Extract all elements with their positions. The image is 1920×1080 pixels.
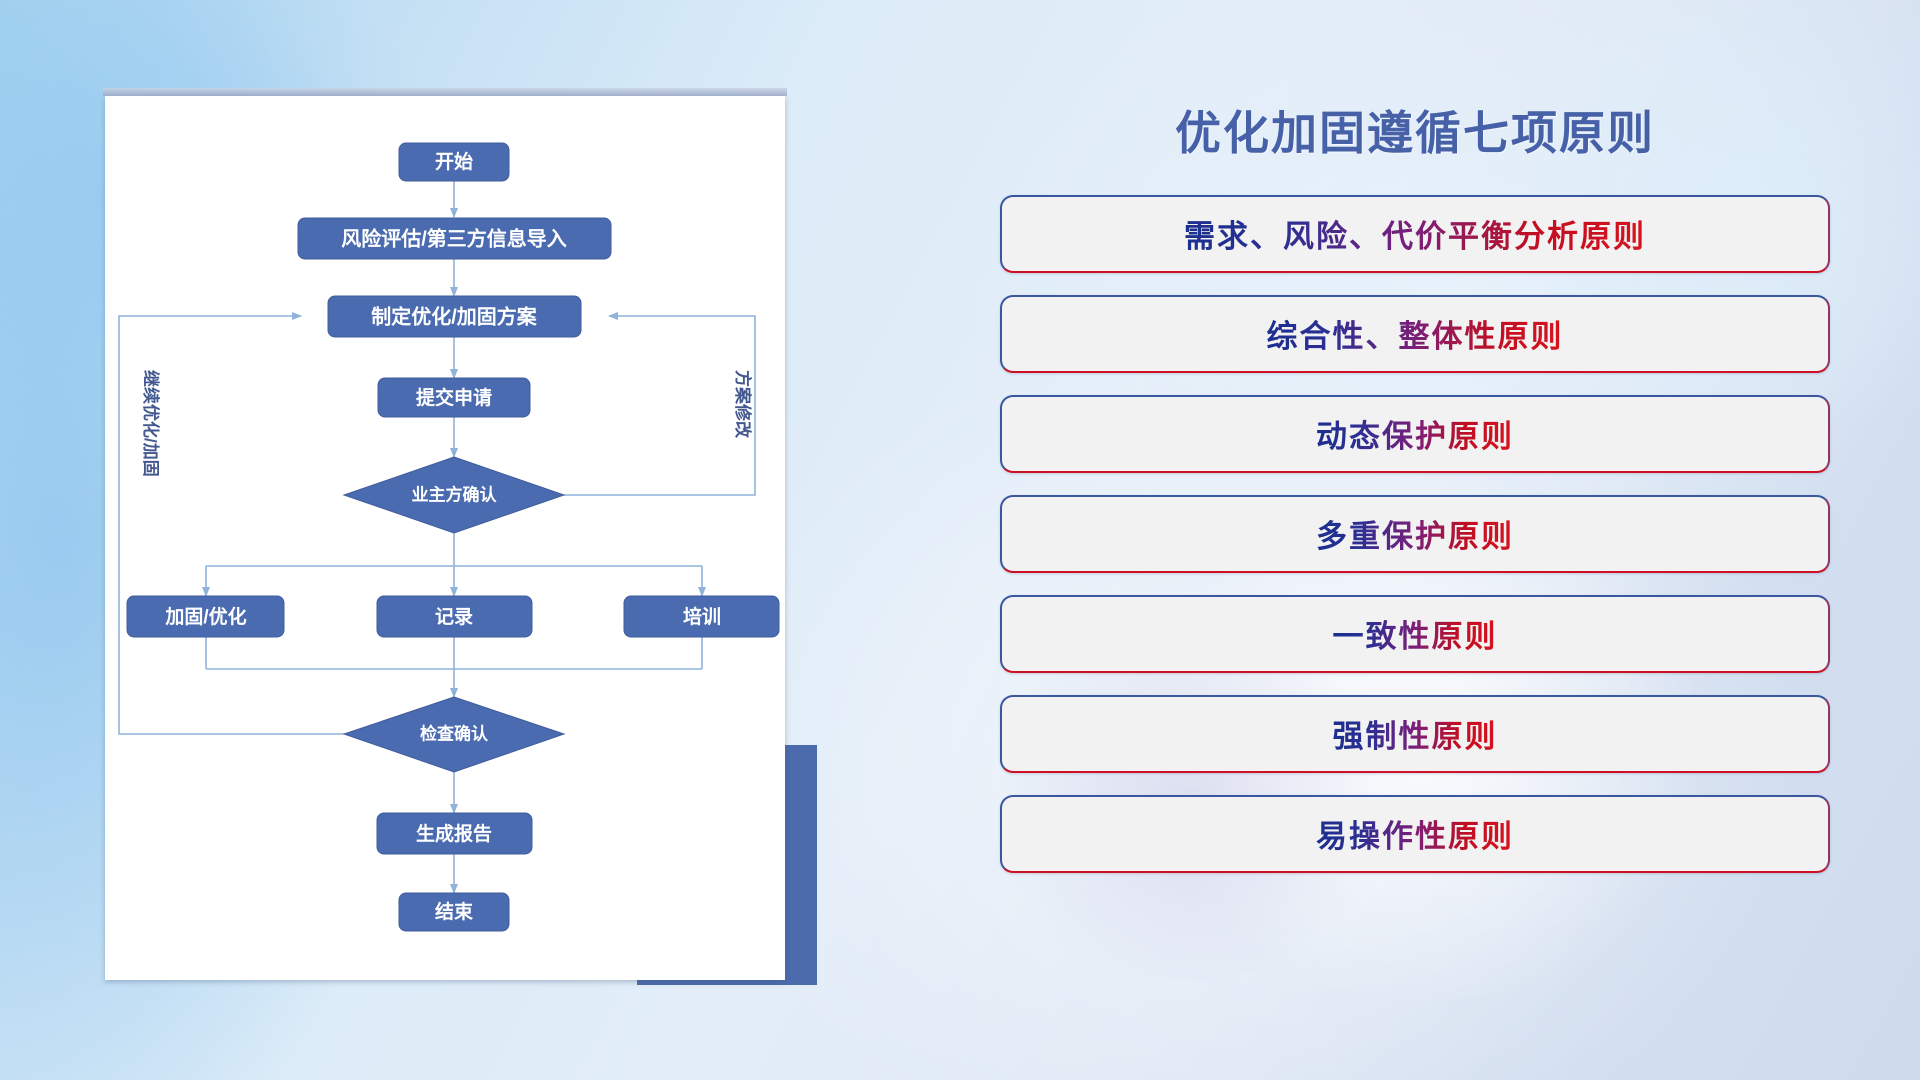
flowchart-card: 开始 风险评估/第三方信息导入 制定优化/加固方案 提交申请 业主方确认 bbox=[105, 96, 785, 980]
principle-label: 强制性原则 bbox=[1333, 711, 1498, 756]
flow-node-ownercfm[interactable]: 业主方确认 bbox=[344, 457, 564, 533]
flow-node-end-label: 结束 bbox=[435, 900, 474, 923]
flow-node-risk-label: 风险评估/第三方信息导入 bbox=[341, 226, 567, 250]
flow-node-record[interactable]: 记录 bbox=[377, 596, 532, 637]
edge-ownercfm-to-plan-revision bbox=[564, 316, 755, 495]
principle-label: 综合性、整体性原则 bbox=[1267, 311, 1564, 356]
flow-node-submit-label: 提交申请 bbox=[416, 386, 492, 409]
principle-label: 多重保护原则 bbox=[1316, 511, 1514, 556]
slide-canvas: 开始 风险评估/第三方信息导入 制定优化/加固方案 提交申请 业主方确认 bbox=[0, 0, 1920, 1080]
flow-node-report[interactable]: 生成报告 bbox=[377, 813, 532, 854]
flow-node-record-label: 记录 bbox=[435, 606, 473, 628]
principle-item-6[interactable]: 强制性原则 bbox=[1000, 695, 1830, 773]
panel-title: 优化加固遵循七项原则 bbox=[1000, 108, 1830, 159]
flow-node-checkcfm[interactable]: 检查确认 bbox=[344, 697, 564, 772]
principle-label: 易操作性原则 bbox=[1316, 811, 1514, 856]
principle-item-7[interactable]: 易操作性原则 bbox=[1000, 795, 1830, 873]
flow-node-ownercfm-label: 业主方确认 bbox=[412, 484, 498, 504]
flow-node-end[interactable]: 结束 bbox=[399, 893, 509, 931]
principle-item-5[interactable]: 一致性原则 bbox=[1000, 595, 1830, 673]
principle-item-1[interactable]: 需求、风险、代价平衡分析原则 bbox=[1000, 195, 1830, 273]
flow-node-submit[interactable]: 提交申请 bbox=[378, 378, 530, 417]
principle-label: 需求、风险、代价平衡分析原则 bbox=[1184, 211, 1646, 256]
flowchart-diagram: 开始 风险评估/第三方信息导入 制定优化/加固方案 提交申请 业主方确认 bbox=[105, 96, 785, 980]
principle-label: 动态保护原则 bbox=[1316, 411, 1514, 456]
flow-node-checkcfm-label: 检查确认 bbox=[420, 723, 489, 743]
edge-label-plan-revision: 方案修改 bbox=[733, 370, 753, 439]
flow-node-reinforce[interactable]: 加固/优化 bbox=[127, 596, 284, 637]
flow-node-start-label: 开始 bbox=[435, 150, 473, 173]
edge-label-continue-optimize: 继续优化/加固 bbox=[141, 370, 161, 477]
principles-list: 需求、风险、代价平衡分析原则 综合性、整体性原则 动态保护原则 多重保护原则 一… bbox=[1000, 195, 1830, 873]
flow-node-training[interactable]: 培训 bbox=[624, 596, 779, 637]
principle-item-2[interactable]: 综合性、整体性原则 bbox=[1000, 295, 1830, 373]
flow-node-report-label: 生成报告 bbox=[416, 822, 492, 845]
principle-label: 一致性原则 bbox=[1333, 611, 1498, 656]
flow-node-start[interactable]: 开始 bbox=[399, 143, 509, 181]
flow-node-plan-label: 制定优化/加固方案 bbox=[371, 304, 538, 328]
principle-item-3[interactable]: 动态保护原则 bbox=[1000, 395, 1830, 473]
flow-node-training-label: 培训 bbox=[683, 605, 721, 628]
principle-item-4[interactable]: 多重保护原则 bbox=[1000, 495, 1830, 573]
flow-node-plan[interactable]: 制定优化/加固方案 bbox=[328, 296, 581, 337]
principles-panel: 优化加固遵循七项原则 需求、风险、代价平衡分析原则 综合性、整体性原则 动态保护… bbox=[1000, 80, 1830, 1020]
flow-node-risk[interactable]: 风险评估/第三方信息导入 bbox=[298, 218, 611, 259]
flow-node-reinforce-label: 加固/优化 bbox=[164, 605, 246, 628]
